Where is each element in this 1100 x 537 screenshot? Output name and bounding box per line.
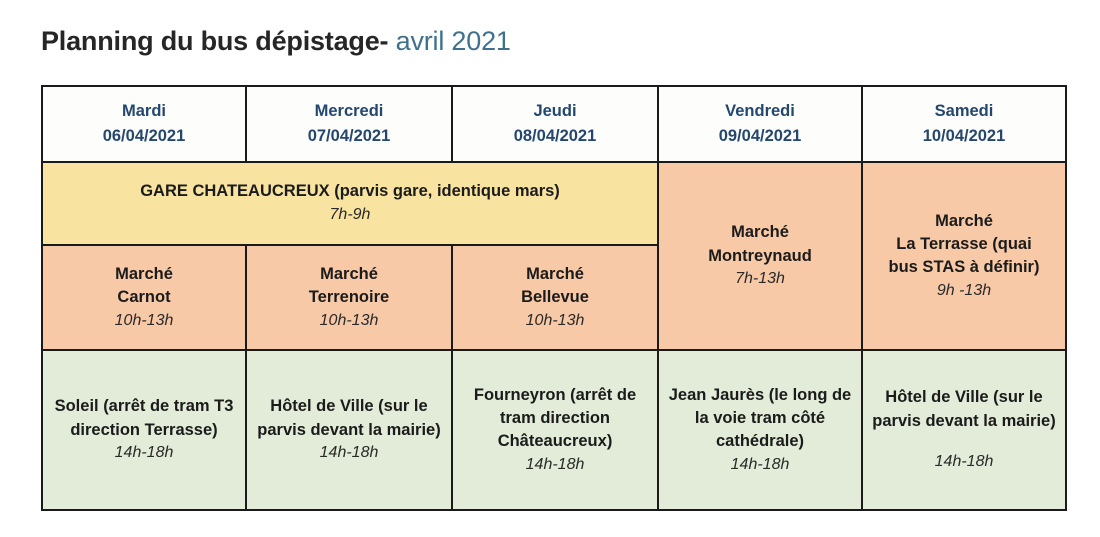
slot-place-line2: Montreynaud xyxy=(665,245,855,268)
slot-place-line2: Terrenoire xyxy=(253,286,445,309)
slot-afternoon-samedi-hotel-de-ville: Hôtel de Ville (sur le parvis devant la … xyxy=(862,350,1066,510)
slot-hours-label: 10h-13h xyxy=(49,310,239,333)
slot-place-line2: La Terrasse (quai xyxy=(869,233,1059,256)
slot-hours-label: 7h-9h xyxy=(49,204,651,227)
slot-afternoon-vendredi-jean-jaures: Jean Jaurès (le long de la voie tram côt… xyxy=(658,350,862,510)
slot-hours-label: 14h-18h xyxy=(459,454,651,477)
slot-hours-label: 14h-18h xyxy=(253,442,445,465)
table-header-row: Mardi 06/04/2021 Mercredi 07/04/2021 Jeu… xyxy=(42,86,1066,162)
header-date-label: 08/04/2021 xyxy=(459,124,651,149)
slot-place-line3: bus STAS à définir) xyxy=(869,256,1059,279)
slot-place-label: Jean Jaurès (le long de la voie tram côt… xyxy=(665,384,855,454)
table-row-afternoon: Soleil (arrêt de tram T3 direction Terra… xyxy=(42,350,1066,510)
header-date-label: 10/04/2021 xyxy=(869,124,1059,149)
slot-place-line1: Marché xyxy=(49,263,239,286)
slot-afternoon-jeudi-fourneyron: Fourneyron (arrêt de tram direction Chât… xyxy=(452,350,658,510)
planning-table: Mardi 06/04/2021 Mercredi 07/04/2021 Jeu… xyxy=(41,85,1067,511)
slot-afternoon-mercredi-hotel-de-ville: Hôtel de Ville (sur le parvis devant la … xyxy=(246,350,452,510)
slot-midday-samedi-la-terrasse: Marché La Terrasse (quai bus STAS à défi… xyxy=(862,162,1066,350)
planning-page: Planning du bus dépistage- avril 2021 Ma… xyxy=(0,0,1100,537)
header-cell-mardi: Mardi 06/04/2021 xyxy=(42,86,246,162)
slot-hours-label: 9h -13h xyxy=(869,280,1059,303)
header-day-label: Mercredi xyxy=(253,99,445,124)
page-title-accent: avril 2021 xyxy=(388,26,510,56)
slot-hours-label: 14h-18h xyxy=(49,442,239,465)
header-cell-jeudi: Jeudi 08/04/2021 xyxy=(452,86,658,162)
header-date-label: 07/04/2021 xyxy=(253,124,445,149)
slot-hours-label: 10h-13h xyxy=(459,310,651,333)
slot-place-label: Fourneyron (arrêt de tram direction Chât… xyxy=(459,384,651,454)
slot-place-line1: Marché xyxy=(869,210,1059,233)
header-day-label: Jeudi xyxy=(459,99,651,124)
slot-afternoon-mardi-soleil: Soleil (arrêt de tram T3 direction Terra… xyxy=(42,350,246,510)
slot-place-line2: Carnot xyxy=(49,286,239,309)
slot-hours-label: 10h-13h xyxy=(253,310,445,333)
header-day-label: Mardi xyxy=(49,99,239,124)
slot-place-label: Hôtel de Ville (sur le parvis devant la … xyxy=(253,395,445,442)
header-day-label: Samedi xyxy=(869,99,1059,124)
page-title: Planning du bus dépistage- avril 2021 xyxy=(41,26,511,57)
slot-place-label: Hôtel de Ville (sur le parvis devant la … xyxy=(869,386,1059,433)
slot-midday-vendredi-montreynaud: Marché Montreynaud 7h-13h xyxy=(658,162,862,350)
header-date-label: 09/04/2021 xyxy=(665,124,855,149)
slot-place-label: Soleil (arrêt de tram T3 direction Terra… xyxy=(49,395,239,442)
header-cell-samedi: Samedi 10/04/2021 xyxy=(862,86,1066,162)
header-day-label: Vendredi xyxy=(665,99,855,124)
slot-place-label: GARE CHATEAUCREUX (parvis gare, identiqu… xyxy=(49,180,651,203)
header-cell-vendredi: Vendredi 09/04/2021 xyxy=(658,86,862,162)
slot-place-line2: Bellevue xyxy=(459,286,651,309)
slot-hours-label: 14h-18h xyxy=(869,451,1059,474)
slot-hours-label: 7h-13h xyxy=(665,268,855,291)
page-title-main: Planning du bus dépistage- xyxy=(41,26,388,56)
slot-midday-jeudi-bellevue: Marché Bellevue 10h-13h xyxy=(452,245,658,350)
slot-midday-mercredi-terrenoire: Marché Terrenoire 10h-13h xyxy=(246,245,452,350)
slot-midday-mardi-carnot: Marché Carnot 10h-13h xyxy=(42,245,246,350)
slot-hours-label: 14h-18h xyxy=(665,454,855,477)
slot-place-line1: Marché xyxy=(665,221,855,244)
header-date-label: 06/04/2021 xyxy=(49,124,239,149)
slot-place-line1: Marché xyxy=(459,263,651,286)
header-cell-mercredi: Mercredi 07/04/2021 xyxy=(246,86,452,162)
table-row-morning: GARE CHATEAUCREUX (parvis gare, identiqu… xyxy=(42,162,1066,245)
slot-place-line1: Marché xyxy=(253,263,445,286)
slot-morning-gare-chateaucreux: GARE CHATEAUCREUX (parvis gare, identiqu… xyxy=(42,162,658,245)
